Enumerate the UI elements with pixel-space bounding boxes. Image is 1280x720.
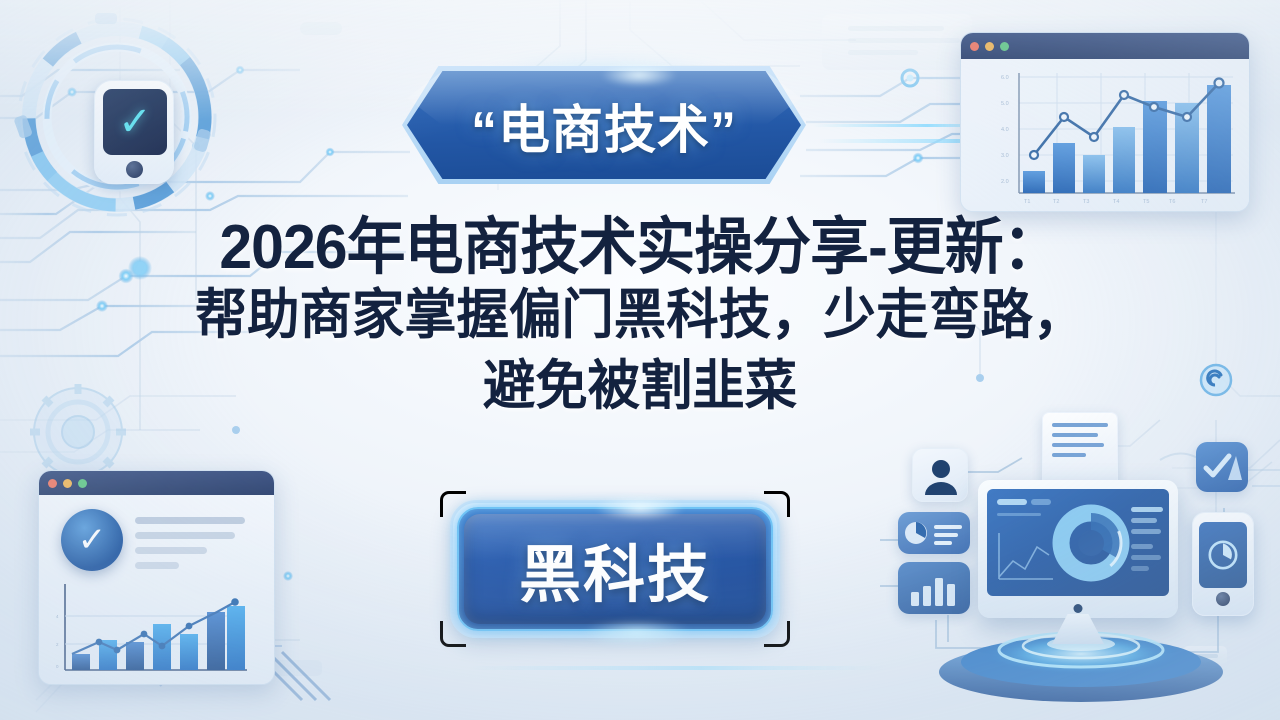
svg-text:6.0: 6.0 [1001,75,1009,81]
pie-chart-tile[interactable] [898,512,970,554]
verified-device-icon: ✓ [22,22,212,212]
device-home-button [126,161,143,178]
skeleton-line [135,547,207,554]
skeleton-line [135,532,235,539]
svg-text:4: 4 [56,614,59,619]
close-icon[interactable] [970,42,979,51]
verified-badge: ✓ [61,509,123,571]
headline-line-1: 2026年电商技术实操分享-更新： [32,216,1248,280]
document-sheet [1042,412,1118,490]
headline-line-3: 避免被割韭菜 [19,351,1261,421]
headline: 2026年电商技术实操分享-更新： 帮助商家掌握偏门黑科技，少走弯路， 避免被割… [0,216,1280,421]
skeleton-line [135,517,245,524]
svg-text:2.0: 2.0 [1001,179,1009,185]
maximize-icon[interactable] [78,479,87,488]
device-body: ✓ [94,80,174,184]
svg-text:4.0: 4.0 [1001,127,1009,133]
check-icon: ✓ [118,102,152,142]
growth-check-tile[interactable] [1196,442,1248,492]
close-icon[interactable] [48,479,57,488]
bottom-badge[interactable]: 黑科技 [450,500,780,638]
svg-text:T5: T5 [1143,199,1149,205]
svg-text:2: 2 [56,642,59,647]
analytics-window[interactable]: 6.05.04.0 3.02.0 T1T2T3 T4T5T6 T7 [960,32,1250,212]
svg-text:3.0: 3.0 [1001,153,1009,159]
user-avatar-tile[interactable] [912,448,968,502]
svg-text:T7: T7 [1201,199,1207,205]
top-badge-label: “电商技术” [402,66,806,184]
svg-text:T4: T4 [1113,199,1119,205]
smartphone-screen [1199,522,1247,588]
chart-bars [1023,85,1231,193]
headline-line-2: 帮助商家掌握偏门黑科技，少走弯路， [19,280,1261,350]
bottom-badge-label: 黑科技 [450,500,780,638]
device-screen: ✓ [103,89,167,155]
svg-text:0: 0 [56,664,59,669]
dashboard-donut-chart [987,489,1169,596]
svg-text:T3: T3 [1083,199,1089,205]
monitor-screen [987,489,1169,596]
check-icon: ✓ [78,523,107,557]
report-window[interactable]: ✓ 420 [38,470,275,685]
smartphone-device[interactable] [1192,512,1254,616]
monitor-power-led [1074,604,1083,613]
pie-chart-icon [898,512,970,554]
top-badge[interactable]: “电商技术” [402,66,806,184]
svg-text:T2: T2 [1053,199,1059,205]
svg-text:T6: T6 [1169,199,1175,205]
svg-text:T1: T1 [1024,199,1030,205]
window-titlebar [961,33,1249,59]
smartphone-home-button[interactable] [1216,592,1230,606]
donut-chart-icon [1201,533,1245,577]
analytics-chart: 6.05.04.0 3.02.0 T1T2T3 T4T5T6 T7 [961,59,1250,212]
maximize-icon[interactable] [1000,42,1009,51]
minimize-icon[interactable] [985,42,994,51]
minimize-icon[interactable] [63,479,72,488]
desktop-monitor[interactable] [978,480,1178,618]
window-titlebar [39,471,274,495]
user-icon [913,449,968,502]
skeleton-line [135,562,179,569]
poster-canvas: ✓ 6.05.04.0 [0,0,1280,720]
svg-text:5.0: 5.0 [1001,101,1009,107]
report-chart: 420 [39,578,275,685]
check-growth-icon [1196,442,1248,492]
